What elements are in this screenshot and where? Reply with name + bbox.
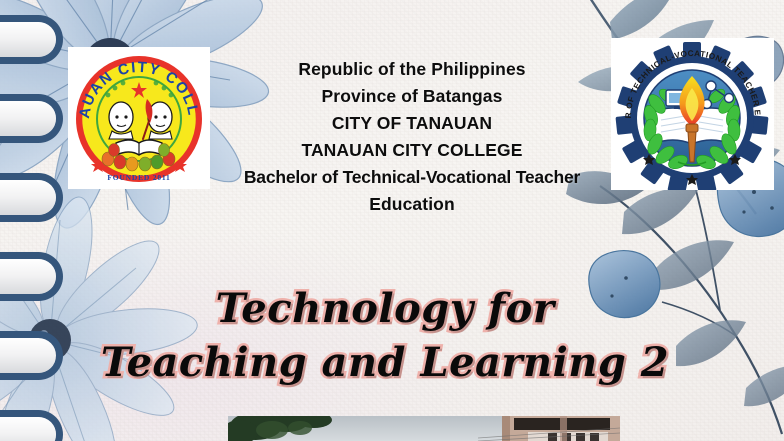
spiral-ring — [0, 180, 56, 215]
presentation-slide: TANAUAN CITY COLLEGE — [0, 0, 784, 441]
tanauan-city-college-seal: TANAUAN CITY COLLEGE — [68, 47, 210, 189]
header-line-province: Province of Batangas — [212, 83, 612, 110]
spiral-ring — [0, 22, 56, 57]
spiral-ring — [0, 338, 56, 373]
spiral-ring — [0, 259, 56, 294]
header-line-program: Bachelor of Technical-Vocational Teacher — [212, 164, 612, 191]
page-title: Technology for Teaching and Learning 2 — [40, 282, 730, 390]
spiral-ring — [0, 101, 56, 136]
spiral-ring — [0, 417, 56, 441]
spiral-binding — [0, 0, 72, 441]
btvted-gear-logo: BACHELOR OF TECHNICAL-VOCATIONAL TEACHER… — [611, 38, 774, 190]
title-line-1: Technology for — [40, 282, 730, 336]
header-line-college: TANAUAN CITY COLLEGE — [212, 137, 612, 164]
campus-building-photo — [228, 416, 620, 441]
header-line-republic: Republic of the Philippines — [212, 56, 612, 83]
header-line-city: CITY OF TANAUAN — [212, 110, 612, 137]
svg-text:FOUNDED 2011: FOUNDED 2011 — [107, 173, 170, 182]
header-line-education: Education — [212, 191, 612, 218]
institution-header: Republic of the Philippines Province of … — [212, 56, 612, 218]
title-line-2: Teaching and Learning 2 — [40, 336, 730, 390]
